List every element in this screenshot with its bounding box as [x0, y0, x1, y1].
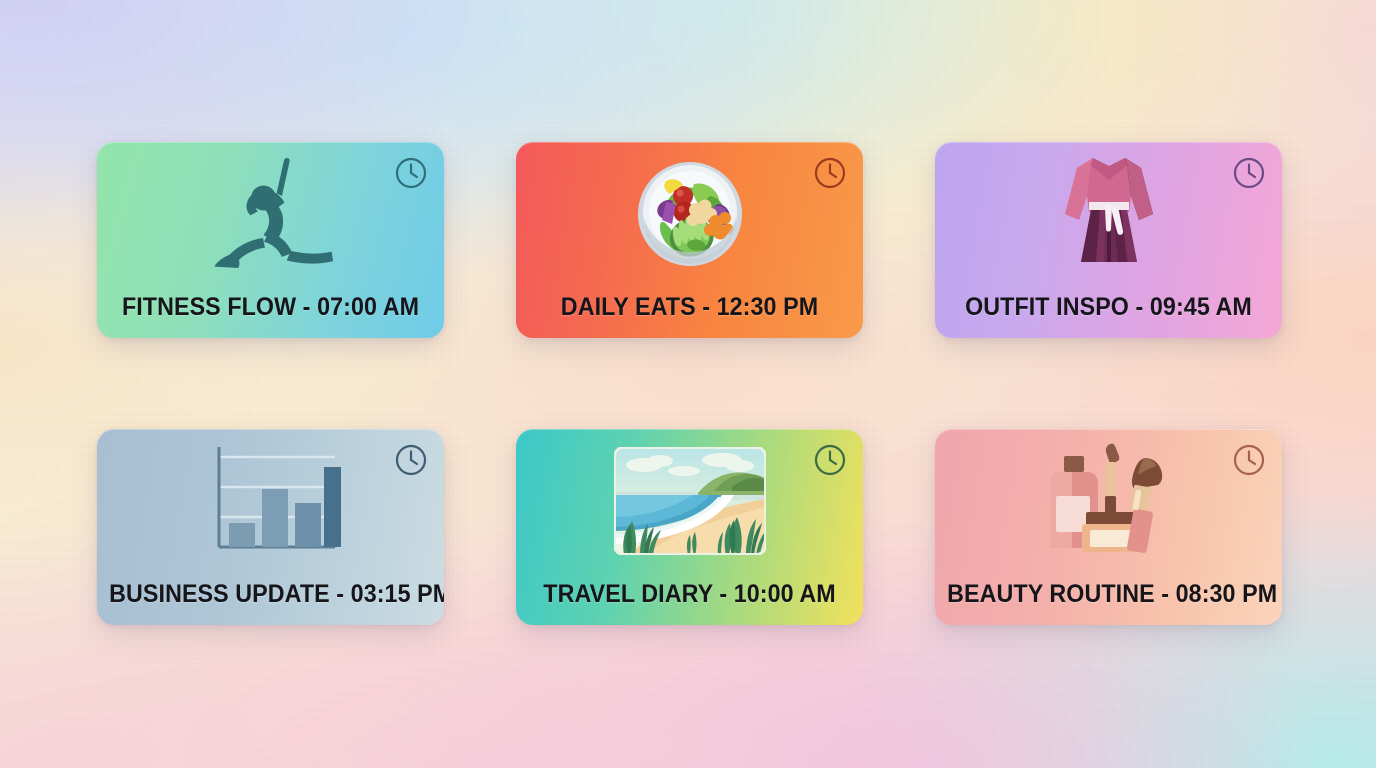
salad-bowl-icon [632, 156, 748, 272]
bar-chart-icon [201, 443, 341, 559]
card-fitness-flow[interactable]: FITNESS FLOW - 07:00 AM [97, 142, 444, 338]
card-caption-eats: DAILY EATS - 12:30 PM [528, 293, 851, 322]
dress-icon [1057, 152, 1161, 276]
card-caption-travel: TRAVEL DIARY - 10:00 AM [528, 580, 851, 609]
schedule-card-grid: FITNESS FLOW - 07:00 AM [97, 142, 1279, 638]
card-art-fitness [97, 150, 444, 278]
card-art-business [97, 437, 444, 565]
card-art-outfit [935, 150, 1282, 278]
yoga-silhouette-icon [203, 152, 339, 276]
card-caption-business: BUSINESS UPDATE - 03:15 PM [109, 580, 432, 609]
card-art-beauty [935, 437, 1282, 565]
card-caption-outfit: OUTFIT INSPO - 09:45 AM [947, 293, 1270, 322]
card-caption-beauty: BEAUTY ROUTINE - 08:30 PM [947, 580, 1270, 609]
card-outfit-inspo[interactable]: OUTFIT INSPO - 09:45 AM [935, 142, 1282, 338]
card-business-update[interactable]: BUSINESS UPDATE - 03:15 PM [97, 429, 444, 625]
cosmetics-icon [1042, 440, 1176, 562]
card-travel-diary[interactable]: TRAVEL DIARY - 10:00 AM [516, 429, 863, 625]
card-caption-fitness: FITNESS FLOW - 07:00 AM [109, 293, 432, 322]
card-beauty-routine[interactable]: BEAUTY ROUTINE - 08:30 PM [935, 429, 1282, 625]
card-daily-eats[interactable]: DAILY EATS - 12:30 PM [516, 142, 863, 338]
beach-landscape-icon [614, 447, 766, 555]
card-art-eats [516, 150, 863, 278]
card-art-travel [516, 437, 863, 565]
